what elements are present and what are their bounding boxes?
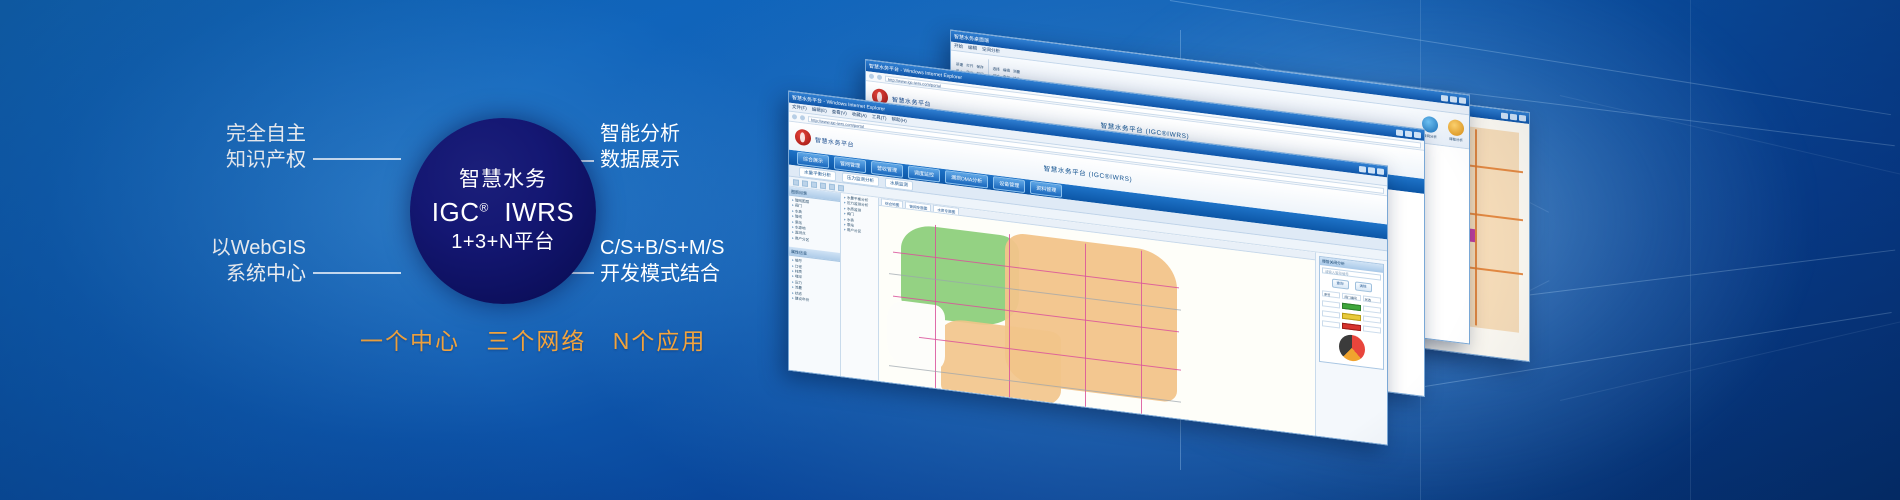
burst-valve-dialog[interactable]: 爆管关阀分析 请输入管段编号 查询 清除 序号 阀门编号 状态 [1319,256,1384,370]
feature-bottom-right: C/S+B/S+M/S 开发模式结合 [600,236,725,287]
attribute-list: 编号 口径 材质 埋深 压力 流量 状态 建设年份 [789,256,840,308]
pan-icon[interactable] [793,179,799,186]
menu-view[interactable]: 查看(V) [832,109,847,117]
connector-line-bottom-left [313,272,401,274]
ribbon-tab[interactable]: 空间分析 [982,47,1000,55]
feature-line-1: 完全自主 [186,122,306,148]
query-button[interactable]: 查询 [1332,278,1349,289]
forward-icon[interactable] [800,115,805,121]
back-icon[interactable] [792,114,797,120]
menu-tools[interactable]: 工具(T) [872,114,887,122]
window-controls[interactable] [1441,94,1466,103]
window-controls[interactable] [1396,129,1421,138]
back-icon[interactable] [869,74,874,80]
feature-top-right: 智能分析 数据展示 [600,122,680,173]
registered-mark-icon: ® [480,201,489,215]
zoom-in-icon[interactable] [802,180,808,187]
connector-line-top-left [313,158,401,160]
window-controls[interactable] [1501,112,1526,121]
menu-file[interactable]: 文件(F) [792,104,807,112]
col-index: 序号 [1322,290,1340,298]
ribbon-cmd[interactable]: 打开 [966,63,973,69]
tagline-part-3: N个应用 [613,328,707,354]
feature-line-2: 数据展示 [600,148,680,174]
feature-line-2: 知识产权 [186,148,306,174]
ribbon-tab[interactable]: 编辑 [968,45,977,52]
banner-tagline: 一个中心 三个网络 N个应用 [360,322,706,356]
ribbon-tab[interactable]: 开始 [954,43,963,50]
ribbon-cmd[interactable]: 选择 [993,66,1000,72]
col-valve: 阀门编号 [1342,293,1360,301]
feature-top-left: 完全自主 知识产权 [186,122,306,173]
zoom-out-icon[interactable] [811,181,817,188]
product-name: IGC [432,197,480,227]
circle-title: 智慧水务 [459,168,547,192]
logo-text: 智慧水务平台 [815,134,854,148]
ribbon-cmd[interactable]: 保存 [976,64,983,70]
screenshot-group: 城市管网总览图 智慧水务桌面端 开始 编辑 [760,40,1880,380]
platform-title: 智慧水务平台 (IGC®IWRS) [1044,162,1133,183]
ribbon-big-label: 爆管分析 [1449,135,1463,142]
menu-favorites[interactable]: 收藏(A) [852,111,867,119]
circle-product: IGC® IWRS [432,198,574,227]
window-controls[interactable] [1359,165,1384,174]
ribbon-cmd[interactable]: 测量 [1013,69,1020,75]
col-status: 状态 [1363,295,1381,303]
feature-line-2: 开发模式结合 [600,262,725,288]
ribbon-cmd[interactable]: 新建 [956,62,963,68]
print-icon[interactable] [838,184,844,191]
analysis-dialog-panel[interactable]: 爆管关阀分析 请输入管段编号 查询 清除 序号 阀门编号 状态 [1315,252,1387,445]
center-circle-badge: 智慧水务 IGC® IWRS 1+3+N平台 [410,118,596,304]
menu-edit[interactable]: 编辑(E) [812,106,827,114]
clear-button[interactable]: 清除 [1355,281,1372,292]
product-name-2: IWRS [504,197,574,227]
identify-icon[interactable] [829,183,835,190]
feature-line-2: 系统中心 [186,262,306,288]
banner-stage: 城市管网总览图 智慧水务桌面端 开始 编辑 [0,0,1900,500]
forward-icon[interactable] [877,75,882,81]
tool-panel[interactable]: 水量平衡分析 压力监测分析 水质监测 阀门 水表 泵站 用户分区 [841,193,879,391]
water-drop-logo-icon [795,128,811,146]
burst-analysis-icon[interactable] [1448,118,1464,136]
ribbon-big-label: 管网分析 [1423,132,1437,139]
tool-list[interactable]: 水量平衡分析 压力监测分析 水质监测 阀门 水表 泵站 用户分区 [841,193,878,237]
tagline-part-2: 三个网络 [486,328,586,354]
feature-line-1: 以WebGIS [186,236,306,262]
circle-platform: 1+3+N平台 [451,230,555,254]
ribbon-cmd[interactable]: 编辑 [1003,68,1010,74]
layer-panel[interactable]: 图层目录 管网图层 阀门 水表 管线 泵站 水源地 监测点 用户分区 属性信息 … [789,187,841,387]
water-quality-pie-chart [1339,333,1365,362]
measure-icon[interactable] [820,182,826,189]
feature-line-1: C/S+B/S+M/S [600,236,725,262]
menu-help[interactable]: 帮助(H) [892,116,907,124]
feature-line-1: 智能分析 [600,122,680,148]
layer-tree[interactable]: 管网图层 阀门 水表 管线 泵站 水源地 监测点 用户分区 [789,196,840,248]
feature-bottom-left: 以WebGIS 系统中心 [186,236,306,287]
tagline-part-1: 一个中心 [360,328,460,354]
